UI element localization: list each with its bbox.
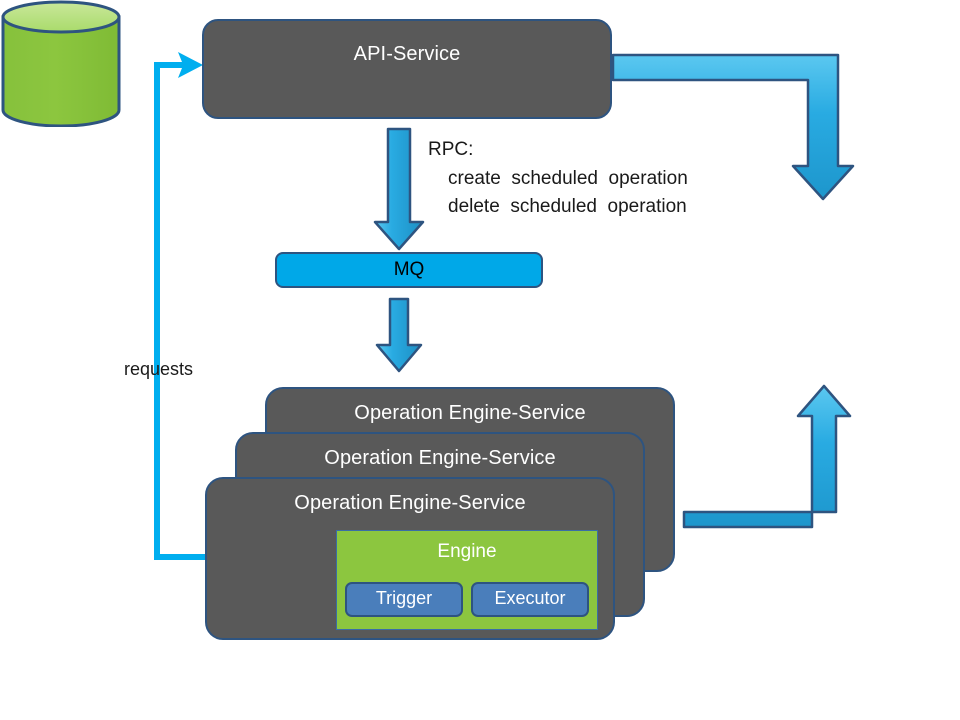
edge-operation-engine-to-db bbox=[684, 386, 850, 527]
rpc-operation-delete-label: delete scheduled operation bbox=[448, 197, 687, 216]
engine-component-row: Trigger Executor bbox=[345, 582, 589, 617]
operation-engine-service-label-front: Operation Engine-Service bbox=[207, 479, 613, 515]
db-label: DB bbox=[762, 292, 884, 313]
engine-label: Engine bbox=[337, 531, 597, 563]
operation-engine-service-label-middle: Operation Engine-Service bbox=[237, 434, 643, 470]
engine-node[interactable]: Engine Trigger Executor bbox=[336, 530, 598, 630]
edge-requests-feedback bbox=[157, 65, 205, 557]
diagram-canvas: API-Service RPC: create scheduled operat… bbox=[0, 0, 960, 720]
edge-requests-feedback-arrowhead bbox=[168, 52, 203, 78]
rpc-operation-create-label: create scheduled operation bbox=[448, 169, 688, 188]
edge-api-service-to-mq bbox=[375, 129, 423, 249]
trigger-label: Trigger bbox=[376, 588, 432, 608]
db-cylinder-top bbox=[3, 2, 119, 32]
executor-label: Executor bbox=[494, 588, 565, 608]
edge-mq-to-operation-engine bbox=[377, 299, 421, 371]
executor-node[interactable]: Executor bbox=[471, 582, 589, 617]
db-node[interactable] bbox=[0, 0, 122, 127]
trigger-node[interactable]: Trigger bbox=[345, 582, 463, 617]
operation-engine-service-label-back: Operation Engine-Service bbox=[267, 389, 673, 425]
mq-node[interactable]: MQ bbox=[275, 252, 543, 288]
api-service-node[interactable]: API-Service bbox=[202, 19, 612, 119]
api-service-label: API-Service bbox=[204, 21, 610, 66]
rpc-heading-label: RPC: bbox=[428, 140, 473, 159]
requests-edge-label: requests bbox=[124, 360, 193, 378]
mq-label: MQ bbox=[394, 259, 425, 281]
